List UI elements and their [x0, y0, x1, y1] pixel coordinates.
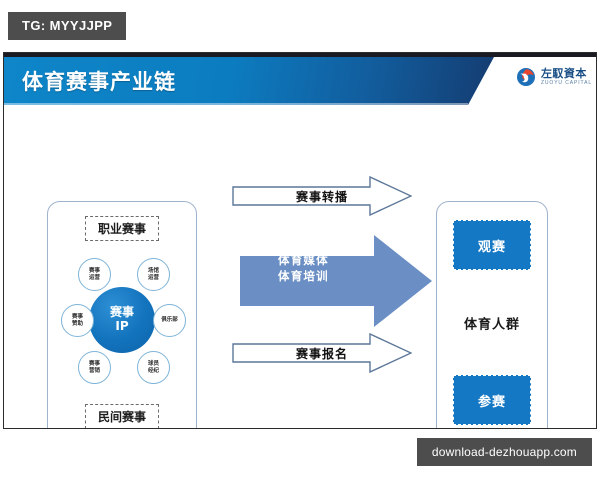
left-panel-event-ip: 职业赛事 赛事 IP 赛事 运营 场馆 运营 俱乐部 [47, 201, 197, 429]
node-line2: 经纪 [148, 368, 159, 375]
node-line2: 营销 [89, 368, 100, 375]
node-club: 俱乐部 [153, 304, 186, 337]
node-event-marketing: 赛事 营销 [78, 351, 111, 384]
node-line1: 俱乐部 [161, 317, 178, 324]
box-join-event: 参赛 [453, 375, 531, 425]
page-title: 体育赛事产业链 [22, 66, 176, 96]
tg-watermark: TG: MYYJJPP [8, 12, 126, 40]
node-event-operations: 赛事 运营 [78, 258, 111, 291]
arrow-broadcast: 赛事转播 [232, 176, 412, 216]
node-line1: 球员 [148, 361, 159, 368]
node-player-agency: 球员 经纪 [137, 351, 170, 384]
label-amateur-events: 民间赛事 [85, 404, 159, 429]
node-line2: 运营 [89, 275, 100, 282]
core-node-line2: IP [115, 319, 128, 333]
node-event-sponsorship: 赛事 赞助 [61, 304, 94, 337]
right-panel-sports-population: 观赛 体育人群 参赛 [436, 201, 548, 429]
node-venue-operations: 场馆 运营 [137, 258, 170, 291]
arrow-registration: 赛事报名 [232, 333, 412, 373]
brand-logo: 左馭資本 ZUOYU CAPITAL [516, 67, 592, 87]
node-line1: 场馆 [148, 268, 159, 275]
brand-name-cn: 左馭資本 [541, 68, 592, 79]
slide-header: 体育赛事产业链 左馭資本 ZUOYU CAPITAL [4, 57, 597, 105]
label-sports-population: 体育人群 [437, 313, 547, 332]
brand-logo-text: 左馭資本 ZUOYU CAPITAL [541, 68, 592, 86]
zuoyu-swirl-logo-icon [516, 67, 536, 87]
brand-name-en: ZUOYU CAPITAL [541, 81, 592, 86]
diagram-area: 职业赛事 赛事 IP 赛事 运营 场馆 运营 俱乐部 [4, 105, 597, 426]
presentation-slide: 体育赛事产业链 左馭資本 ZUOYU CAPITAL [3, 52, 597, 429]
arrow-sports-services: 体育彩票 体育媒体 体育培训 [240, 235, 432, 327]
node-line2: 运营 [148, 275, 159, 282]
core-node-event-ip: 赛事 IP [89, 287, 155, 353]
download-watermark: download-dezhouapp.com [417, 438, 592, 466]
node-line1: 赛事 [89, 361, 100, 368]
label-professional-events: 职业赛事 [85, 216, 159, 241]
box-watch-event: 观赛 [453, 220, 531, 270]
slide-canvas: TG: MYYJJPP 体育赛事产业链 左馭資本 [0, 0, 600, 480]
core-node-line1: 赛事 [110, 306, 134, 319]
node-line1: 赛事 [72, 314, 83, 321]
node-line2: 赞助 [72, 321, 83, 328]
node-line1: 赛事 [89, 268, 100, 275]
